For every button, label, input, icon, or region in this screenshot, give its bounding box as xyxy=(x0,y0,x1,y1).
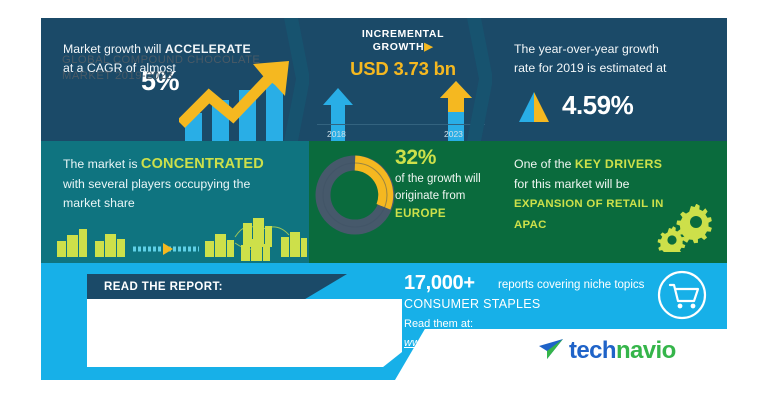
reports-caption: reports covering niche topics xyxy=(498,279,644,291)
shopping-cart-icon[interactable] xyxy=(656,269,708,326)
concentration-line3: market share xyxy=(63,196,135,210)
yoy-description: The year-over-year growth rate for 2019 … xyxy=(514,40,714,78)
region-percent: 32% xyxy=(395,146,436,169)
concentration-line1-strong: CONCENTRATED xyxy=(141,156,264,172)
incremental-growth-title: INCREMENTAL GROWTH▶ xyxy=(323,28,483,54)
incremental-title-line2: GROWTH xyxy=(373,41,424,53)
triangle-growth-icon xyxy=(516,92,552,127)
report-title-card[interactable] xyxy=(87,299,402,367)
incremental-label-end: 2023 xyxy=(444,129,463,139)
read-the-report-tab[interactable]: READ THE REPORT: xyxy=(87,274,347,302)
city-buildings-distribution-icon xyxy=(53,217,309,261)
region-line2: originate from xyxy=(395,190,465,202)
report-category: CONSUMER STAPLES xyxy=(404,297,541,311)
driver-line2: APAC xyxy=(514,219,547,231)
logo-text-navio: navio xyxy=(616,337,676,364)
report-title: GLOBAL COMPOUND CHOCOLATE MARKET 2019-20… xyxy=(62,52,352,84)
report-title-line1: GLOBAL COMPOUND CHOCOLATE xyxy=(62,54,260,66)
triangle-marker-icon: ▶ xyxy=(424,41,433,53)
incremental-label-start: 2018 xyxy=(327,129,346,139)
read-the-report-label: READ THE REPORT: xyxy=(104,281,223,293)
gears-icon xyxy=(653,204,713,257)
region-donut-chart xyxy=(315,155,395,240)
panel-regional-growth: 32% of the growth will originate from EU… xyxy=(309,141,492,263)
region-description: 32% of the growth will originate from EU… xyxy=(395,149,491,223)
yoy-line1: The year-over-year growth xyxy=(514,42,659,56)
incremental-growth-bars: 2018 2023 xyxy=(309,80,492,141)
incremental-axis-line xyxy=(317,124,485,125)
read-them-at-label: Read them at: xyxy=(404,318,473,330)
middle-row: The market is CONCENTRATED with several … xyxy=(41,141,727,263)
yoy-value: 4.59% xyxy=(562,90,633,121)
driver-line1: EXPANSION OF RETAIL IN xyxy=(514,198,664,210)
logo-text-tech: tech xyxy=(569,337,616,364)
concentration-description: The market is CONCENTRATED with several … xyxy=(63,155,303,214)
panel-market-concentration: The market is CONCENTRATED with several … xyxy=(41,141,309,263)
technavio-logo: technavio xyxy=(538,337,676,365)
yoy-line2: rate for 2019 is estimated at xyxy=(514,61,666,75)
infographic-canvas: Market growth will ACCELERATE at a CAGR … xyxy=(0,0,768,401)
reports-count: 17,000+ xyxy=(404,272,475,295)
drivers-line2: for this market will be xyxy=(514,177,630,191)
region-name: EUROPE xyxy=(395,208,446,220)
logo-text: technavio xyxy=(569,337,676,365)
paper-plane-icon xyxy=(538,338,564,365)
concentration-line2: with several players occupying the xyxy=(63,177,250,191)
incremental-title-line1: INCREMENTAL xyxy=(362,28,444,40)
report-title-line2: MARKET 2019-2023 xyxy=(62,70,173,82)
concentration-line1-prefix: The market is xyxy=(63,157,141,171)
drivers-line1-prefix: One of the xyxy=(514,157,575,171)
region-line1: of the growth will xyxy=(395,173,481,185)
panel-key-drivers: One of the KEY DRIVERS for this market w… xyxy=(492,141,727,263)
panel-yoy-growth: The year-over-year growth rate for 2019 … xyxy=(492,18,727,141)
drivers-line1-strong: KEY DRIVERS xyxy=(575,157,663,171)
